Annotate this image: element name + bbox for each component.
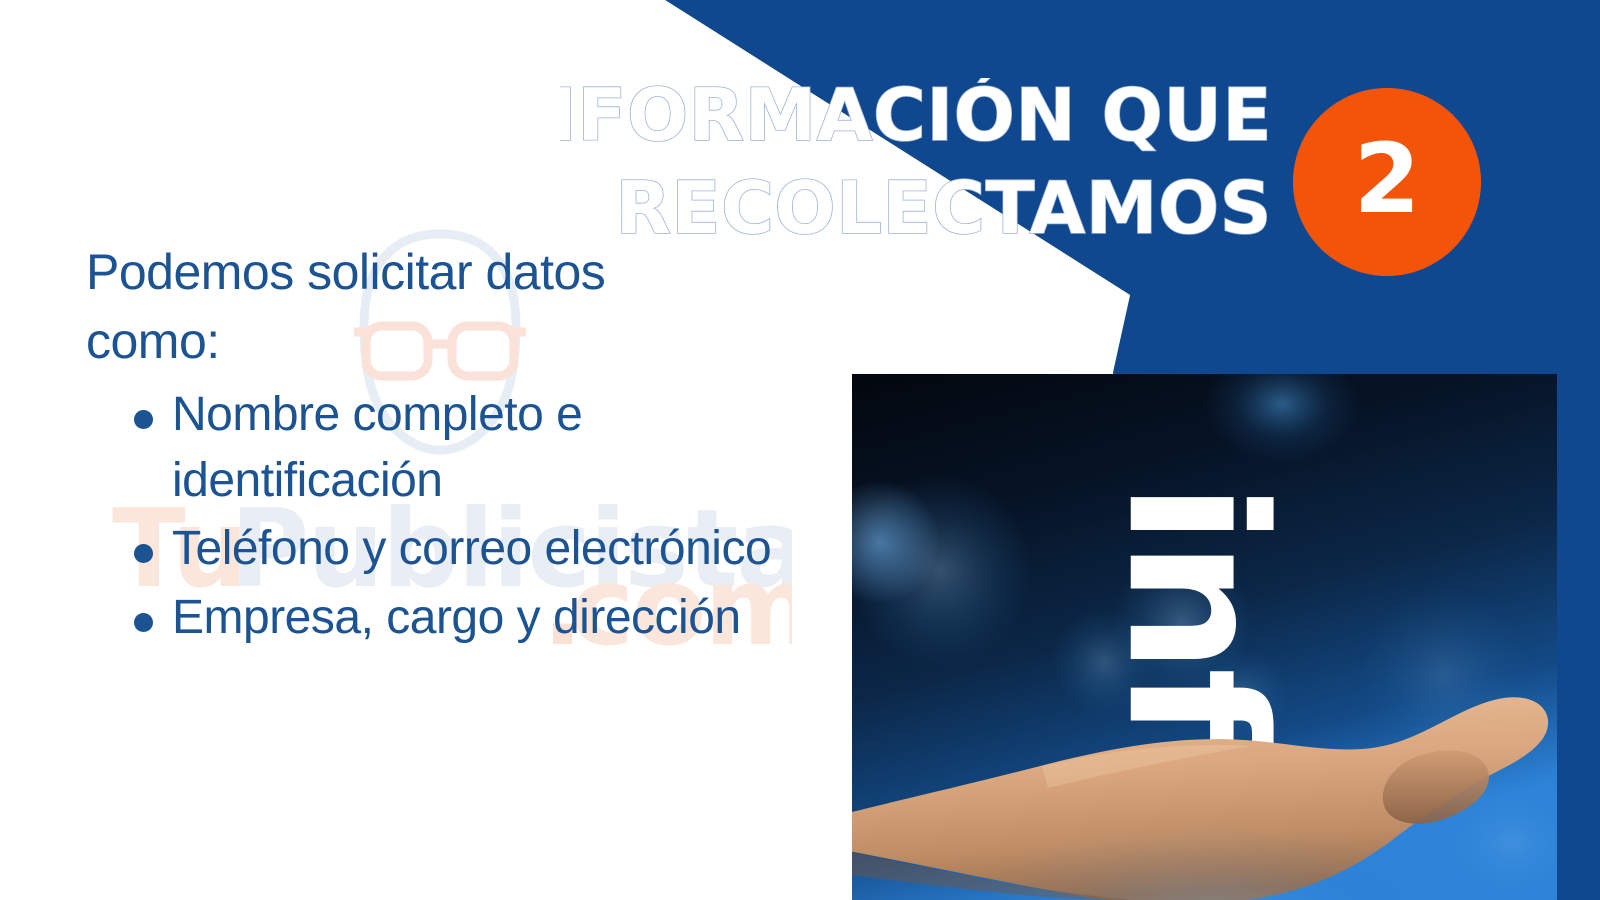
photo-artwork: info [852, 374, 1557, 900]
step-number-value: 2 [1354, 131, 1421, 227]
lead-paragraph: Podemos solicitar datos como: [86, 238, 686, 376]
slide-title: INFORMACIÓN QUE RECOLECTAMOS [560, 78, 1272, 253]
hand-holding-info-photo: info [852, 374, 1557, 900]
step-number-badge: 2 [1293, 88, 1481, 276]
slide-canvas: Tu Publicista . com INFORMACIÓN QUE RECO… [0, 0, 1600, 900]
list-item: Nombre completo e identificación [86, 382, 786, 514]
list-item: Teléfono y correo electrónico [86, 516, 786, 582]
title-outlined-text: INFORMACIÓN QUE RECOLECTAMOS [560, 78, 1272, 253]
title-line-1: INFORMACIÓN QUE [560, 78, 1272, 157]
bullet-list: Nombre completo e identificación Teléfon… [86, 382, 786, 651]
body-content: Podemos solicitar datos como: Nombre com… [86, 238, 786, 653]
list-item: Empresa, cargo y dirección [86, 585, 786, 651]
